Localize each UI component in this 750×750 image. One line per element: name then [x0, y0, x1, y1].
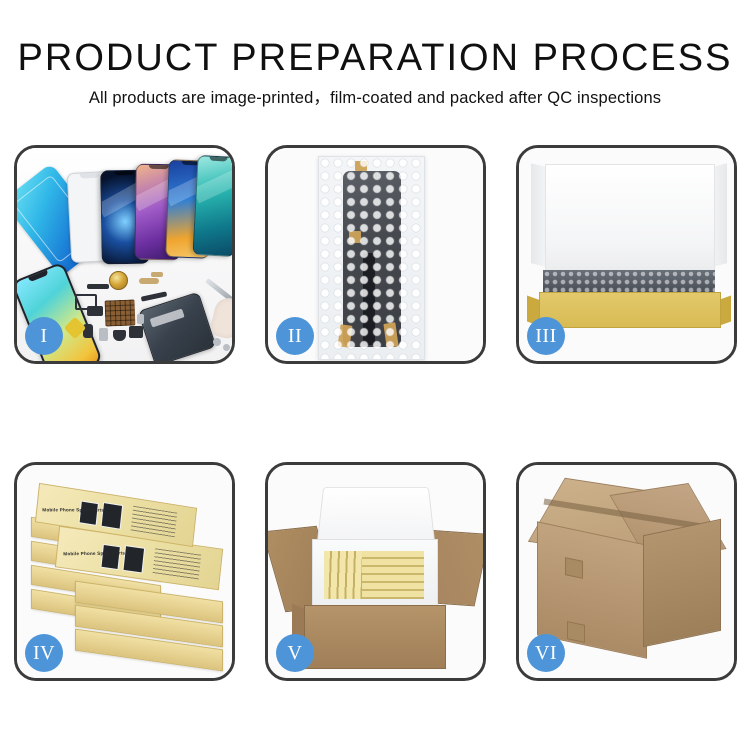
bubble-wrap-bag	[318, 156, 425, 360]
step-panel-4: Mobile Phone Spare Parts Mobile Phone Sp…	[14, 462, 235, 681]
inner-box-front	[539, 292, 721, 328]
box-screen-photo	[100, 544, 121, 570]
carton-body	[304, 605, 446, 669]
box-label-text: Mobile Phone Spare Parts	[63, 550, 125, 556]
step-badge-2: II	[276, 317, 314, 355]
carton-side-face	[643, 519, 721, 648]
step-panel-6: VI	[516, 462, 737, 681]
box-lid	[545, 164, 715, 278]
step-badge-5: V	[276, 634, 314, 672]
process-steps-grid: I II	[14, 145, 736, 681]
box-screen-photo	[79, 500, 99, 525]
page-header: PRODUCT PREPARATION PROCESS All products…	[0, 0, 750, 109]
spare-part	[99, 328, 108, 341]
step-badge-1: I	[25, 317, 63, 355]
step-badge-3: III	[527, 317, 565, 355]
screen-flex-cable	[363, 253, 375, 345]
spare-part	[151, 272, 163, 277]
phone-display-4	[192, 155, 232, 257]
step-panel-2: II	[265, 145, 486, 364]
tape-piece	[355, 161, 367, 171]
step-panel-3: III	[516, 145, 737, 364]
box-screen-photo	[122, 545, 145, 573]
spare-part	[75, 294, 97, 310]
foam-box-lid	[316, 487, 435, 547]
spare-part	[137, 314, 144, 324]
screw-plate-part	[105, 299, 136, 326]
carton-tape-bottom	[567, 621, 585, 643]
page-title: PRODUCT PREPARATION PROCESS	[0, 36, 750, 80]
step-panel-1: I	[14, 145, 235, 364]
step-badge-4: IV	[25, 634, 63, 672]
box-screen-photo	[101, 502, 124, 530]
bubble-wrapped-contents	[543, 270, 715, 292]
spare-part	[113, 330, 126, 341]
step-badge-6: VI	[527, 634, 565, 672]
spare-part	[139, 278, 159, 284]
speaker-part-icon	[109, 271, 128, 290]
step-panel-5: V	[265, 462, 486, 681]
spare-part	[223, 344, 230, 351]
product-preparation-process-page: PRODUCT PREPARATION PROCESS All products…	[0, 0, 750, 750]
carton-tape-top	[565, 557, 583, 579]
tape-piece	[349, 231, 361, 243]
packed-inner-boxes	[324, 551, 424, 599]
page-subtitle: All products are image-printed，film-coat…	[0, 87, 750, 109]
spare-part	[129, 326, 143, 338]
box-label-text: Mobile Phone Spare Parts	[42, 507, 104, 512]
spare-part	[87, 284, 109, 289]
spare-part	[213, 338, 221, 346]
